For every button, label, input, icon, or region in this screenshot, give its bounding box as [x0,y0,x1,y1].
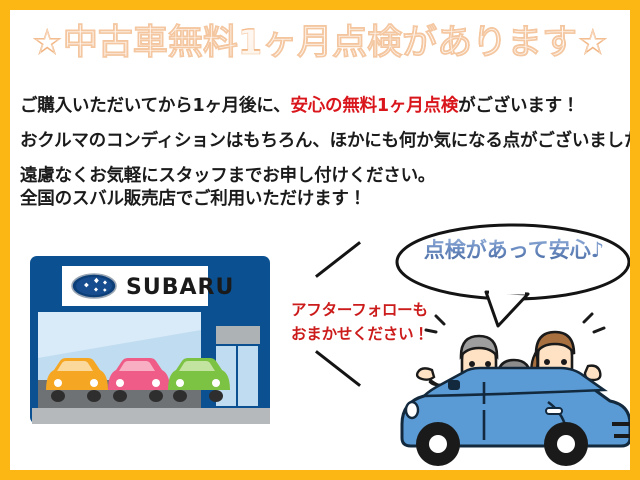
speech-bubble-text: 点検があって安心♪ [408,234,620,264]
body-line-1-highlight: 安心の無料1ヶ月点検 [290,96,458,116]
motion-lines-left [426,316,444,332]
poster-inner: ☆中古車無料1ヶ月点検があります☆ ご購入いただいてから1ヶ月後に、安心の無料1… [10,10,630,470]
bracket-line-top [315,241,361,278]
car-door-handle [546,408,562,414]
body-line-3: 遠慮なくお気軽にスタッフまでお申し付けください。 [20,162,435,187]
dealership-illustration: SUBARU [24,250,276,436]
advertisement-poster: ☆中古車無料1ヶ月点検があります☆ ご購入いただいてから1ヶ月後に、安心の無料1… [0,0,640,480]
body-line-4: 全国のスバル販売店でご利用いただけます！ [20,185,366,210]
sidewalk [32,408,270,424]
entrance-header [216,326,260,344]
body-line-1: ご購入いただいてから1ヶ月後に、安心の無料1ヶ月点検がございます！ [20,92,579,117]
body-line-1-part-a: ご購入いただいてから1ヶ月後に、 [20,96,290,116]
body-line-2: おクルマのコンディションはもちろん、ほかにも何か気になる点がございましたら [20,127,630,152]
family-car-illustration [388,298,630,470]
page-title: ☆中古車無料1ヶ月点検があります☆ [10,22,630,64]
bracket-line-bottom [315,350,361,387]
entrance-door-right [238,346,258,406]
subaru-oval-logo [72,274,116,298]
car-mirror [448,380,460,390]
body-line-1-part-b: がございます！ [458,96,579,116]
sign-text: SUBARU [126,275,234,300]
motion-lines-right [584,314,604,332]
car-headlight [406,402,418,418]
